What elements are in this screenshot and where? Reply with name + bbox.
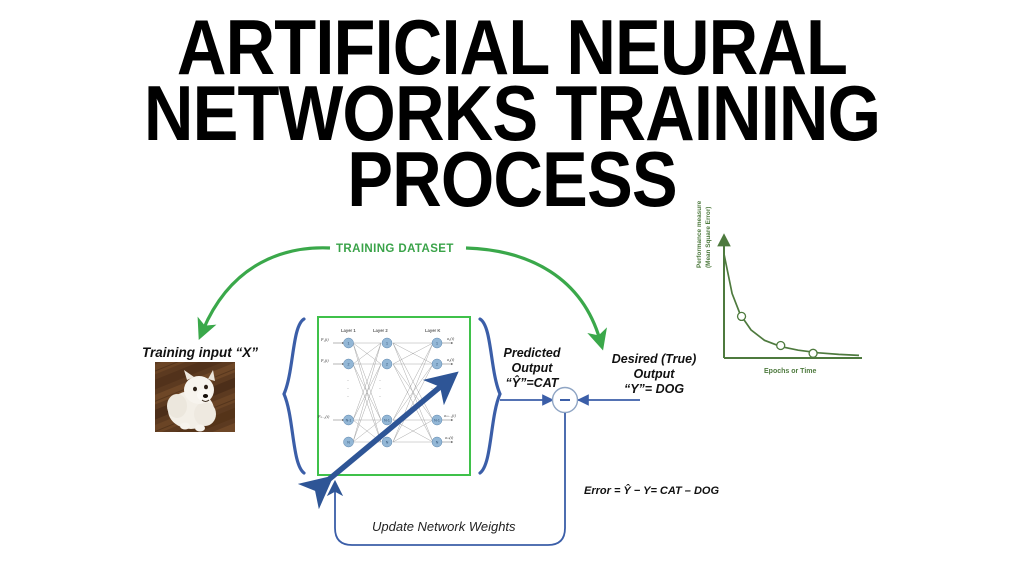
layer-label-2: Layer 2 <box>373 328 388 333</box>
predicted-output-line-2: Output <box>512 361 553 375</box>
svg-text:N: N <box>347 440 350 444</box>
svg-text:2: 2 <box>436 362 438 366</box>
predicted-output-line-3: “Ŷ”=CAT <box>506 376 559 390</box>
svg-text:·: · <box>347 378 349 384</box>
svg-text:·: · <box>347 394 349 400</box>
diagram-canvas: ARTIFICIAL NEURAL NETWORKS TRAINING PROC… <box>0 0 1024 576</box>
svg-text:·: · <box>431 386 433 392</box>
desired-output-line-2: “Y”= DOG <box>624 382 684 396</box>
svg-text:N-1: N-1 <box>346 418 352 422</box>
error-equation-label: Error = Ŷ − Y= CAT – DOG <box>584 485 719 497</box>
predicted-output-line-1: Predicted <box>504 346 561 360</box>
performance-chart: Performance measure (Mean Square Error) … <box>694 232 864 384</box>
input-label-1: P₁(t) <box>320 337 329 342</box>
chart-curve <box>724 254 859 355</box>
title-line-3: PROCESS <box>61 146 962 212</box>
svg-text:·: · <box>431 394 433 400</box>
svg-text:2: 2 <box>386 362 388 366</box>
neural-network-graph: Layer 1 Layer 2 Layer K <box>317 316 471 476</box>
svg-text:1: 1 <box>436 341 438 345</box>
svg-text:N: N <box>436 440 439 444</box>
output-label-1: a₁(t) <box>447 336 455 341</box>
chart-marker-2 <box>777 342 785 350</box>
right-brace <box>474 316 510 476</box>
svg-text:N-1: N-1 <box>384 418 390 422</box>
svg-text:N-1: N-1 <box>434 418 440 422</box>
chart-marker-1 <box>738 312 746 320</box>
output-label-m-1: aₘ₋₁(t) <box>444 413 456 418</box>
input-label-n-1: Pₙ₋₁(t) <box>317 414 330 419</box>
svg-text:·: · <box>379 394 381 400</box>
training-input-label: Training input “X” <box>142 345 258 360</box>
chart-plot-area <box>694 232 864 384</box>
dog-photo-illustration <box>155 362 235 432</box>
svg-text:1: 1 <box>348 341 350 345</box>
output-label-2: a₂(t) <box>447 357 455 362</box>
left-brace <box>278 316 314 476</box>
output-label-m: aₘ(t) <box>445 435 454 440</box>
svg-text:N: N <box>386 440 389 444</box>
svg-text:·: · <box>379 386 381 392</box>
layer-label-k: Layer K <box>425 328 440 333</box>
predicted-output-label: Predicted Output “Ŷ”=CAT <box>497 346 567 391</box>
svg-text:2: 2 <box>348 362 350 366</box>
training-dataset-label: TRAINING DATASET <box>336 243 454 255</box>
layer-label-1: Layer 1 <box>341 328 356 333</box>
svg-text:1: 1 <box>386 341 388 345</box>
update-weights-label: Update Network Weights <box>372 519 516 534</box>
input-label-2: P₂(t) <box>320 358 329 363</box>
page-title: ARTIFICIAL NEURAL NETWORKS TRAINING PROC… <box>0 14 1024 212</box>
svg-text:·: · <box>379 378 381 384</box>
desired-output-line-1: Desired (True) Output <box>612 352 697 381</box>
summing-junction <box>553 388 578 413</box>
chart-marker-3 <box>809 349 817 357</box>
svg-text:·: · <box>347 386 349 392</box>
training-input-photo <box>155 362 235 432</box>
svg-text:·: · <box>431 378 433 384</box>
